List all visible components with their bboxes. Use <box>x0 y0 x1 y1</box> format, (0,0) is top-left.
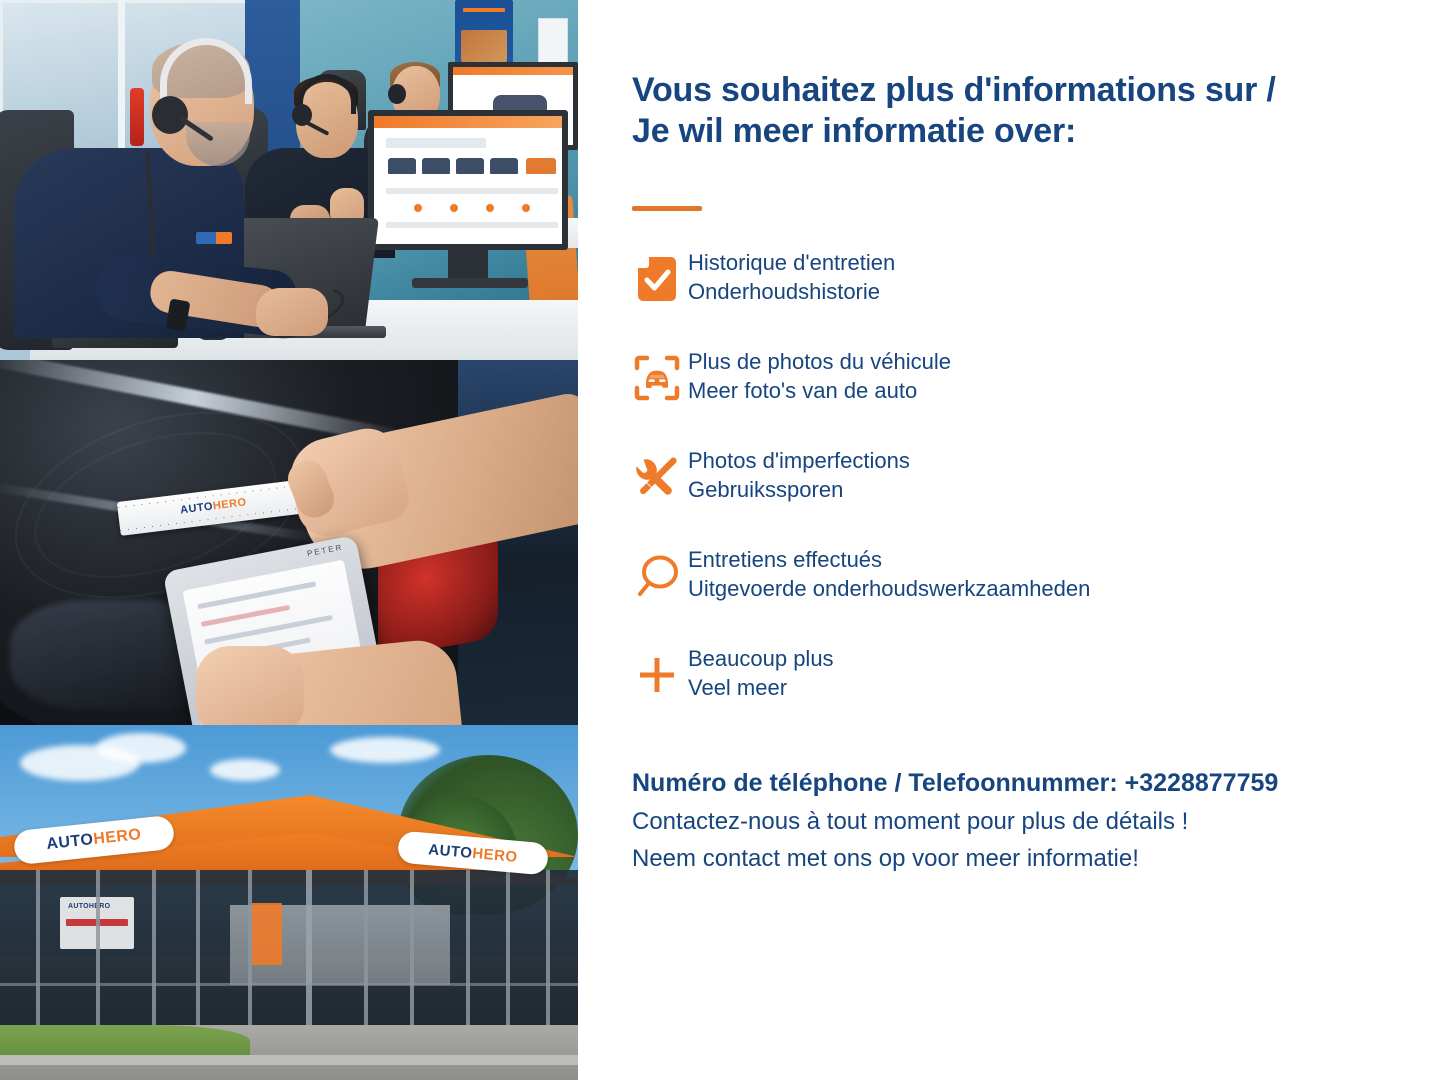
contact-line-french: Contactez-nous à tout moment pour plus d… <box>632 803 1432 840</box>
car-scan-icon <box>626 347 688 409</box>
glass-transom <box>0 983 578 986</box>
feature-item-maintenance-done: Entretiens effectués Uitgevoerde onderho… <box>626 543 1266 642</box>
shirt-logo <box>196 232 232 244</box>
promo-page: AUTOHERO PETER <box>0 0 1440 1080</box>
feature-item-service-history: Historique d'entretien Onderhoudshistori… <box>626 246 1266 345</box>
monitor-car-thumbnail <box>490 158 518 174</box>
title-divider <box>632 206 702 211</box>
glass-mullion <box>36 870 40 1035</box>
notice-sheet <box>538 18 568 66</box>
curb <box>0 1055 578 1065</box>
glass-mullion <box>466 870 470 1035</box>
headline-french: Vous souhaitez plus d'informations sur / <box>632 70 1412 111</box>
agent-hand <box>256 288 328 336</box>
feature-item-more-photos: Plus de photos du véhicule Meer foto's v… <box>626 345 1266 444</box>
feature-label-french: Beaucoup plus <box>688 644 834 673</box>
feature-label-dutch: Meer foto's van de auto <box>688 376 951 405</box>
monitor-header-bar <box>374 116 562 128</box>
ruler-logo-auto: AUTO <box>180 500 214 516</box>
glass-mullion <box>152 870 156 1035</box>
monitor-text-row <box>386 222 558 228</box>
monitor-feature-icon <box>522 204 530 212</box>
monitor-search-bar <box>386 138 486 148</box>
monitor-feature-icon <box>486 204 494 212</box>
poster-brand-label: AUTOHERO <box>68 903 110 910</box>
feature-label-french: Plus de photos du véhicule <box>688 347 951 376</box>
feature-labels: Photos d'imperfections Gebruikssporen <box>688 444 910 504</box>
vehicle-inspection-photo: AUTOHERO PETER <box>0 360 578 725</box>
feature-label-french: Entretiens effectués <box>688 545 1090 574</box>
glass-mullion <box>248 870 252 1035</box>
feature-label-dutch: Onderhoudshistorie <box>688 277 895 306</box>
cloud <box>96 733 186 763</box>
monitor-car-thumbnail <box>526 158 556 174</box>
ruler-logo-hero: HERO <box>212 496 247 512</box>
monitor-feature-icon <box>450 204 458 212</box>
glass-mullion <box>546 870 550 1035</box>
glass-mullion <box>410 870 414 1035</box>
glass-mullion <box>364 870 368 1035</box>
interior-orange-panel <box>252 903 282 965</box>
document-check-icon <box>626 248 688 310</box>
tablet-text-row <box>197 581 316 609</box>
sign-text-hero: HERO <box>472 844 519 865</box>
tablet-text-row <box>201 605 290 627</box>
feature-label-dutch: Uitgevoerde onderhoudswerkzaamheden <box>688 574 1090 603</box>
headset-earcup <box>152 96 188 134</box>
call-center-agents-photo <box>0 0 578 360</box>
content-panel: Vous souhaitez plus d'informations sur /… <box>578 0 1440 1080</box>
feature-label-french: Historique d'entretien <box>688 248 895 277</box>
monitor-base <box>412 278 528 288</box>
feature-labels: Entretiens effectués Uitgevoerde onderho… <box>688 543 1090 603</box>
phone-number-label[interactable]: Numéro de téléphone / Telefoonnummer: +3… <box>632 765 1432 803</box>
tablet-brand-label: PETER <box>306 543 344 559</box>
glass-mullion <box>196 870 200 1035</box>
contact-line-dutch: Neem contact met ons op voor meer inform… <box>632 840 1432 877</box>
monitor-car-thumbnail <box>456 158 484 174</box>
sign-text-auto: AUTO <box>46 831 95 854</box>
fire-extinguisher <box>130 88 144 146</box>
glass-mullion <box>506 870 510 1035</box>
monitor-feature-icon <box>414 204 422 212</box>
feature-item-much-more: Beaucoup plus Veel meer <box>626 642 1266 741</box>
feature-label-dutch: Veel meer <box>688 673 834 702</box>
monitor-car-thumbnail <box>388 158 416 174</box>
corner-column <box>306 870 312 1035</box>
sign-text-hero: HERO <box>92 826 142 849</box>
photo-column: AUTOHERO PETER <box>0 0 578 1080</box>
monitor-text-row <box>386 188 558 194</box>
contact-block: Numéro de téléphone / Telefoonnummer: +3… <box>632 765 1432 877</box>
monitor-car-thumbnail <box>422 158 450 174</box>
feature-label-french: Photos d'imperfections <box>688 446 910 475</box>
cloud <box>330 737 440 763</box>
sign-text-auto: AUTO <box>428 841 474 862</box>
ruler-logo: AUTOHERO <box>180 496 248 516</box>
poster-title-bar <box>463 8 505 12</box>
feature-list: Historique d'entretien Onderhoudshistori… <box>626 246 1266 741</box>
monitor-header-bar <box>453 67 573 75</box>
feature-label-dutch: Gebruikssporen <box>688 475 910 504</box>
headline-dutch: Je wil meer informatie over: <box>632 111 1412 152</box>
plus-icon <box>626 644 688 706</box>
tools-icon <box>626 446 688 508</box>
feature-item-imperfection-photos: Photos d'imperfections Gebruikssporen <box>626 444 1266 543</box>
cloud <box>210 759 280 781</box>
headset-earcup <box>388 84 406 104</box>
feature-labels: Plus de photos du véhicule Meer foto's v… <box>688 345 951 405</box>
autohero-dealership-photo: AUTOHERO AUTOHERO <box>0 725 578 1080</box>
glass-mullion <box>96 870 100 1035</box>
feature-labels: Beaucoup plus Veel meer <box>688 642 834 702</box>
magnifier-icon <box>626 545 688 607</box>
page-title: Vous souhaitez plus d'informations sur /… <box>632 70 1412 153</box>
feature-labels: Historique d'entretien Onderhoudshistori… <box>688 246 895 306</box>
primary-monitor <box>368 110 568 250</box>
inspector-hand <box>196 646 304 725</box>
